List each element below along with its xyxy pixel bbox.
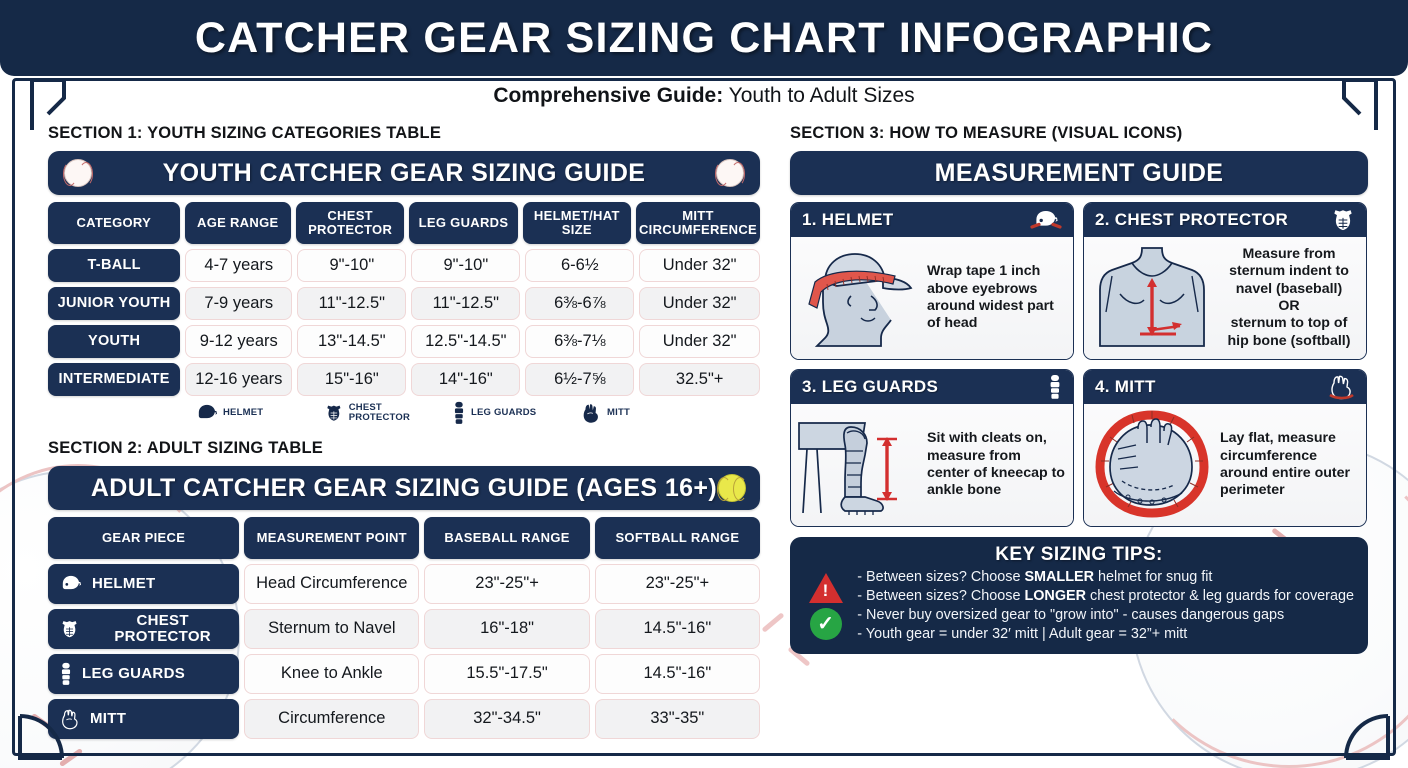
- tip-post: chest protector & leg guards for coverag…: [1086, 588, 1354, 604]
- cell-age: 9-12 years: [185, 325, 292, 358]
- gear-label: MITT: [90, 711, 126, 727]
- cell-helmet: 6-6½: [525, 249, 634, 282]
- cell-chest: 13"-14.5": [297, 325, 406, 358]
- table-row: YOUTH 9-12 years 13"-14.5" 12.5"-14.5" 6…: [48, 325, 760, 358]
- row-label-leg-guards: LEG GUARDS: [48, 654, 239, 694]
- legend-label: CHEST PROTECTOR: [349, 403, 436, 423]
- measure-card-leg-guards: 3. LEG GUARDS: [790, 369, 1074, 527]
- cell-softball-range: 33"-35": [595, 699, 760, 739]
- section2-label: SECTION 2: ADULT SIZING TABLE: [48, 439, 760, 458]
- list-item: - Youth gear = under 32′ mitt | Adult ge…: [857, 625, 1354, 644]
- cell-softball-range: 23"-25"+: [595, 564, 760, 604]
- torso-measure-art: [1088, 242, 1216, 354]
- baseball-icon: [64, 159, 92, 187]
- cell-softball-range: 14.5"-16": [595, 654, 760, 694]
- adult-sizing-table: GEAR PIECE MEASUREMENT POINT BASEBALL RA…: [48, 517, 760, 739]
- corner-bracket-top-right: [1342, 80, 1378, 132]
- leg-guards-icon: [1047, 374, 1063, 400]
- list-item: - Never buy oversized gear to "grow into…: [857, 606, 1354, 625]
- cell-mitt: Under 32": [639, 325, 760, 358]
- section3-label: SECTION 3: HOW TO MEASURE (VISUAL ICONS): [790, 124, 1368, 143]
- card-header: 4. MITT: [1084, 370, 1366, 404]
- cell-mitt: Under 32": [639, 287, 760, 320]
- cell-softball-range: 14.5"-16": [595, 609, 760, 649]
- column-header-age-range: AGE RANGE: [185, 202, 291, 244]
- card-body: Lay flat, measure circumference around e…: [1084, 404, 1366, 526]
- corner-bracket-bottom-right: [1344, 714, 1390, 760]
- card-title: 4. MITT: [1095, 377, 1156, 397]
- cell-measurement-point: Head Circumference: [244, 564, 419, 604]
- chest-protector-icon: [324, 402, 344, 424]
- cell-measurement-point: Sternum to Navel: [244, 609, 419, 649]
- baseball-icon: [716, 159, 744, 187]
- helmet-icon: [1029, 208, 1063, 232]
- leg-guards-icon: [59, 662, 73, 686]
- card-header: 2. CHEST PROTECTOR: [1084, 203, 1366, 237]
- tips-list: - Between sizes? Choose SMALLER helmet f…: [857, 568, 1354, 645]
- cell-baseball-range: 15.5"-17.5": [424, 654, 589, 694]
- card-header: 3. LEG GUARDS: [791, 370, 1073, 404]
- tip-pre: - Youth gear = under 32′ mitt | Adult ge…: [857, 626, 1187, 642]
- chest-protector-icon: [1330, 207, 1356, 233]
- card-header: 1. HELMET: [791, 203, 1073, 237]
- cell-helmet: 6⅜-7⅛: [525, 325, 634, 358]
- gear-icon-legend: HELMET CHEST PROTECTOR LEG GUARDS: [48, 401, 760, 425]
- card-body: Sit with cleats on, measure from center …: [791, 404, 1073, 526]
- table-row: LEG GUARDS Knee to Ankle 15.5"-17.5" 14.…: [48, 654, 760, 694]
- infographic-page: CATCHER GEAR SIZING CHART INFOGRAPHIC Co…: [0, 0, 1408, 768]
- card-title: 1. HELMET: [802, 210, 894, 230]
- gear-label: HELMET: [92, 576, 155, 592]
- head-profile-tape-art: [795, 242, 923, 354]
- mitt-icon: [580, 402, 602, 424]
- legend-item-leg-guards: LEG GUARDS: [452, 401, 564, 425]
- tip-pre: - Between sizes? Choose: [857, 588, 1024, 604]
- gear-label: LEG GUARDS: [82, 666, 185, 682]
- tip-post: helmet for snug fit: [1094, 569, 1212, 585]
- softball-icon: [718, 474, 746, 502]
- cell-leg: 11"-12.5": [411, 287, 520, 320]
- card-body: Wrap tape 1 inch above eyebrows around w…: [791, 237, 1073, 359]
- column-header-baseball-range: BASEBALL RANGE: [424, 517, 589, 559]
- cell-leg: 12.5"-14.5": [411, 325, 520, 358]
- tips-body: ✓ - Between sizes? Choose SMALLER helmet…: [804, 568, 1354, 645]
- cell-age: 12-16 years: [185, 363, 292, 396]
- mitt-icon: [1326, 373, 1356, 401]
- row-label-chest-protector: CHEST PROTECTOR: [48, 609, 239, 649]
- card-text: Sit with cleats on, measure from center …: [927, 430, 1065, 500]
- legend-label: LEG GUARDS: [471, 408, 536, 418]
- seated-leg-art: [795, 409, 923, 521]
- youth-sizing-table: CATEGORY AGE RANGE CHEST PROTECTOR LEG G…: [48, 202, 760, 396]
- helmet-icon: [196, 403, 218, 423]
- page-header: CATCHER GEAR SIZING CHART INFOGRAPHIC: [0, 0, 1408, 76]
- table-row: CHEST PROTECTOR Sternum to Navel 16"-18"…: [48, 609, 760, 649]
- column-header-measurement-point: MEASUREMENT POINT: [244, 517, 419, 559]
- youth-banner-text: YOUTH CATCHER GEAR SIZING GUIDE: [163, 159, 646, 188]
- row-label-youth: YOUTH: [48, 325, 180, 358]
- column-header-helmet: HELMET/HAT SIZE: [523, 202, 631, 244]
- legend-item-chest-protector: CHEST PROTECTOR: [324, 402, 436, 424]
- column-header-mitt: MITT CIRCUMFERENCE: [636, 202, 760, 244]
- table-header-row: CATEGORY AGE RANGE CHEST PROTECTOR LEG G…: [48, 202, 760, 244]
- chest-protector-icon: [59, 618, 80, 640]
- adult-table-banner: ADULT CATCHER GEAR SIZING GUIDE (AGES 16…: [48, 466, 760, 510]
- tip-strong: LONGER: [1024, 588, 1086, 604]
- table-row: INTERMEDIATE 12-16 years 15"-16" 14"-16"…: [48, 363, 760, 396]
- list-item: - Between sizes? Choose SMALLER helmet f…: [857, 568, 1354, 587]
- cell-baseball-range: 16"-18": [424, 609, 589, 649]
- page-title: CATCHER GEAR SIZING CHART INFOGRAPHIC: [195, 14, 1213, 63]
- card-title: 3. LEG GUARDS: [802, 377, 938, 397]
- legend-item-helmet: HELMET: [196, 403, 308, 423]
- adult-banner-text: ADULT CATCHER GEAR SIZING GUIDE (AGES 16…: [91, 474, 717, 503]
- cell-mitt: Under 32": [639, 249, 760, 282]
- table-row: HELMET Head Circumference 23"-25"+ 23"-2…: [48, 564, 760, 604]
- legend-item-mitt: MITT: [580, 402, 692, 424]
- corner-bracket-top-left: [30, 80, 66, 132]
- subtitle-bold: Comprehensive Guide:: [493, 84, 723, 107]
- youth-table-banner: YOUTH CATCHER GEAR SIZING GUIDE: [48, 151, 760, 195]
- measure-card-mitt: 4. MITT: [1083, 369, 1367, 527]
- right-column: SECTION 3: HOW TO MEASURE (VISUAL ICONS)…: [790, 124, 1368, 654]
- measurement-cards: 1. HELMET: [790, 202, 1368, 527]
- cell-age: 4-7 years: [185, 249, 292, 282]
- tips-icon-column: ✓: [804, 573, 847, 640]
- card-text: Measure from sternum indent to navel (ba…: [1220, 246, 1358, 351]
- row-label-junior-youth: JUNIOR YOUTH: [48, 287, 180, 320]
- warning-triangle-icon: [809, 573, 843, 603]
- legend-label: MITT: [607, 408, 630, 418]
- section1-label: SECTION 1: YOUTH SIZING CATEGORIES TABLE: [48, 124, 760, 143]
- cell-age: 7-9 years: [185, 287, 292, 320]
- cell-measurement-point: Knee to Ankle: [244, 654, 419, 694]
- column-header-leg-guards: LEG GUARDS: [409, 202, 517, 244]
- column-header-chest: CHEST PROTECTOR: [296, 202, 404, 244]
- gear-label: CHEST PROTECTOR: [89, 613, 236, 644]
- row-label-helmet: HELMET: [48, 564, 239, 604]
- cell-chest: 11"-12.5": [297, 287, 406, 320]
- column-header-gear-piece: GEAR PIECE: [48, 517, 239, 559]
- cell-leg: 14"-16": [411, 363, 520, 396]
- measurement-guide-banner: MEASUREMENT GUIDE: [790, 151, 1368, 195]
- legend-label: HELMET: [223, 408, 263, 418]
- left-column: SECTION 1: YOUTH SIZING CATEGORIES TABLE…: [48, 124, 760, 744]
- leg-guards-icon: [452, 401, 466, 425]
- table-row: MITT Circumference 32"-34.5" 33"-35": [48, 699, 760, 739]
- measure-card-chest-protector: 2. CHEST PROTECTOR: [1083, 202, 1367, 360]
- subtitle-rest: Youth to Adult Sizes: [723, 84, 914, 107]
- glove-circumference-art: [1088, 409, 1216, 521]
- row-label-tball: T-BALL: [48, 249, 180, 282]
- cell-measurement-point: Circumference: [244, 699, 419, 739]
- column-header-softball-range: SOFTBALL RANGE: [595, 517, 760, 559]
- tip-strong: SMALLER: [1024, 569, 1094, 585]
- card-title: 2. CHEST PROTECTOR: [1095, 210, 1288, 230]
- cell-helmet: 6½-7⅝: [525, 363, 634, 396]
- tip-pre: - Never buy oversized gear to "grow into…: [857, 607, 1284, 623]
- list-item: - Between sizes? Choose LONGER chest pro…: [857, 587, 1354, 606]
- cell-chest: 9"-10": [297, 249, 406, 282]
- column-header-category: CATEGORY: [48, 202, 180, 244]
- tip-pre: - Between sizes? Choose: [857, 569, 1024, 585]
- cell-baseball-range: 23"-25"+: [424, 564, 589, 604]
- table-header-row: GEAR PIECE MEASUREMENT POINT BASEBALL RA…: [48, 517, 760, 559]
- card-text: Lay flat, measure circumference around e…: [1220, 430, 1358, 500]
- row-label-intermediate: INTERMEDIATE: [48, 363, 180, 396]
- row-label-mitt: MITT: [48, 699, 239, 739]
- card-body: Measure from sternum indent to navel (ba…: [1084, 237, 1366, 359]
- check-circle-icon: ✓: [810, 608, 842, 640]
- table-row: T-BALL 4-7 years 9"-10" 9"-10" 6-6½ Unde…: [48, 249, 760, 282]
- card-text: Wrap tape 1 inch above eyebrows around w…: [927, 263, 1065, 333]
- key-sizing-tips: KEY SIZING TIPS: ✓ - Between sizes? Choo…: [790, 537, 1368, 654]
- measure-card-helmet: 1. HELMET: [790, 202, 1074, 360]
- cell-helmet: 6⅜-6⅞: [525, 287, 634, 320]
- cell-leg: 9"-10": [411, 249, 520, 282]
- corner-bracket-bottom-left: [18, 714, 64, 760]
- page-subtitle: Comprehensive Guide: Youth to Adult Size…: [0, 84, 1408, 108]
- cell-baseball-range: 32"-34.5": [424, 699, 589, 739]
- helmet-icon: [59, 574, 83, 594]
- measurement-banner-text: MEASUREMENT GUIDE: [935, 159, 1224, 188]
- table-row: JUNIOR YOUTH 7-9 years 11"-12.5" 11"-12.…: [48, 287, 760, 320]
- tips-title: KEY SIZING TIPS:: [804, 544, 1354, 566]
- cell-mitt: 32.5"+: [639, 363, 760, 396]
- cell-chest: 15"-16": [297, 363, 406, 396]
